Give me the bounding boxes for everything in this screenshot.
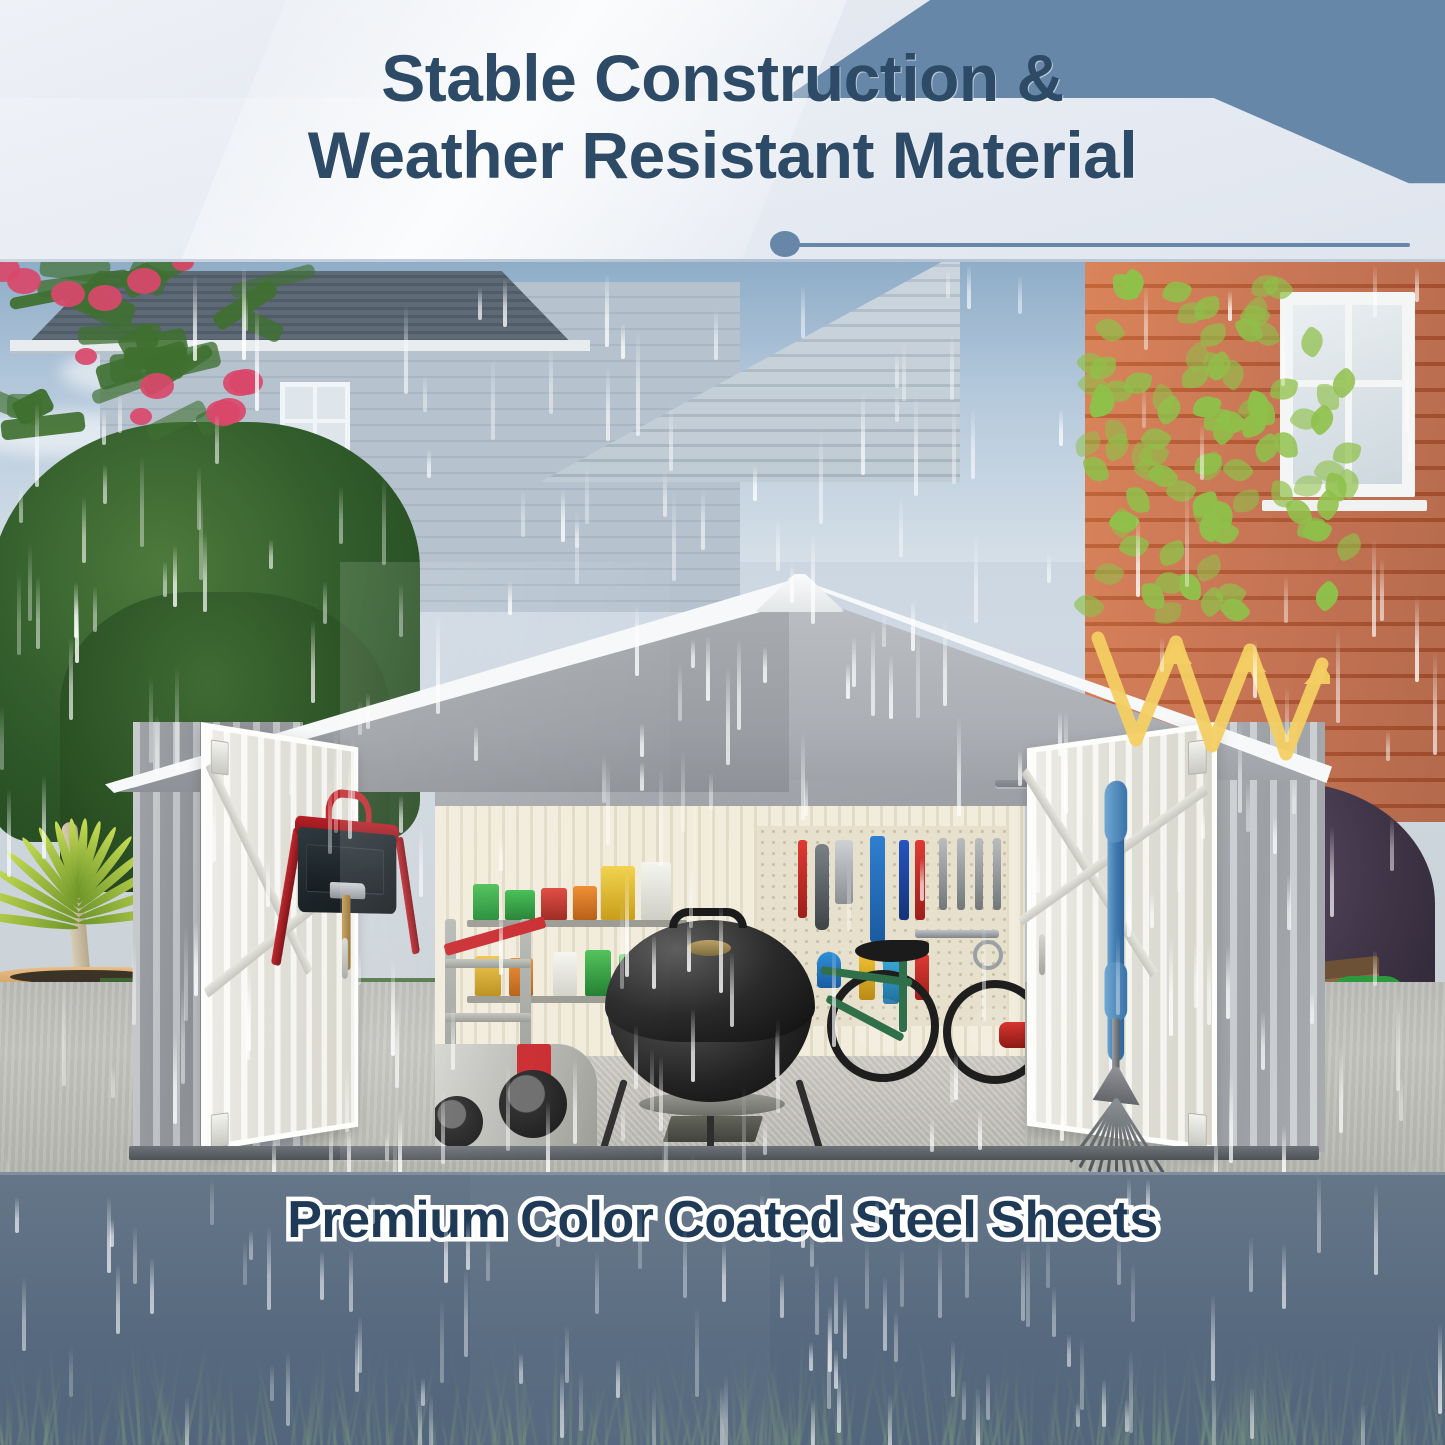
tool-wrench-4: [993, 838, 1001, 910]
tool-saw: [835, 840, 853, 904]
tool-wrench-1: [939, 838, 947, 910]
tool-screwdriver-red: [798, 840, 807, 918]
product-photo: {}: [0, 262, 1445, 1172]
rake-grip-lower: [1105, 962, 1128, 1021]
tool-wrench-2: [957, 838, 965, 910]
page-title: Stable Construction & Weather Resistant …: [0, 40, 1445, 193]
bicycle-red-tool: [999, 1022, 1025, 1048]
grill-vent: [687, 940, 731, 956]
footer-heading: Premium Color Coated Steel Sheets: [0, 1190, 1445, 1250]
vine-leaf: [1176, 300, 1205, 325]
pink-blossom: [127, 268, 161, 294]
toolbag-strap-right: [395, 837, 420, 955]
vine-leaf: [1296, 325, 1329, 359]
door-left-hinge-bottom: [211, 1112, 229, 1148]
rake-grip-top: [1105, 780, 1128, 844]
bicycle-seat: [855, 940, 929, 962]
vine-leaf: [1090, 356, 1116, 379]
shed-door-right[interactable]: [1027, 722, 1217, 1152]
grill-lid-handle: [669, 908, 747, 928]
product-infographic: Stable Construction & Weather Resistant …: [0, 0, 1445, 1445]
garden-shed: [105, 392, 1320, 1172]
bottle-orange: [573, 886, 597, 920]
mower-wheel-front: [499, 1070, 567, 1138]
pink-blossom: [7, 268, 41, 294]
box-yellow: [601, 866, 635, 920]
bottle-green-2: [505, 890, 535, 920]
door-left-handle[interactable]: [342, 938, 348, 979]
pink-blossom: [51, 281, 85, 307]
tool-screwdriver-red-2: [915, 840, 925, 920]
bottle-white: [553, 952, 577, 996]
bicycle-handlebar: [915, 930, 999, 938]
pink-blossom: [75, 348, 97, 365]
door-right-hinge-bottom: [1188, 1113, 1207, 1149]
tool-level-blue: [870, 836, 885, 942]
accent-dot: [770, 231, 800, 257]
header-bottom-edge: [0, 259, 1445, 262]
tool-hook-steel: [973, 940, 1003, 970]
vine-leaf: [1182, 366, 1208, 388]
vine-leaf: [1199, 322, 1227, 347]
accent-line: [794, 243, 1410, 247]
door-right-handle[interactable]: [1039, 934, 1045, 975]
sun-rays-icon: [1090, 630, 1330, 770]
title-line-2: Weather Resistant Material: [0, 117, 1445, 194]
door-left-hinge-top: [211, 739, 229, 775]
bottle-red: [541, 888, 567, 920]
shed-base-trim: [129, 1146, 1319, 1160]
bottle-green-1: [473, 884, 499, 920]
header-banner: Stable Construction & Weather Resistant …: [0, 0, 1445, 262]
tool-wrench-3: [975, 838, 983, 910]
title-line-1: Stable Construction &: [0, 40, 1445, 117]
rake-shaft: [1112, 1018, 1120, 1075]
footer-top-edge: [0, 1172, 1445, 1175]
title-accent-rule: [770, 240, 1410, 249]
tool-pliers: [815, 844, 829, 930]
vine-leaf: [1093, 313, 1126, 347]
footer-banner: Premium Color Coated Steel Sheets › Weat…: [0, 1172, 1445, 1445]
box-white: [641, 862, 671, 920]
bicycle-frame-seat: [899, 958, 907, 1032]
tool-screwdriver-blue: [899, 840, 909, 920]
shed-door-left[interactable]: [201, 722, 358, 1152]
